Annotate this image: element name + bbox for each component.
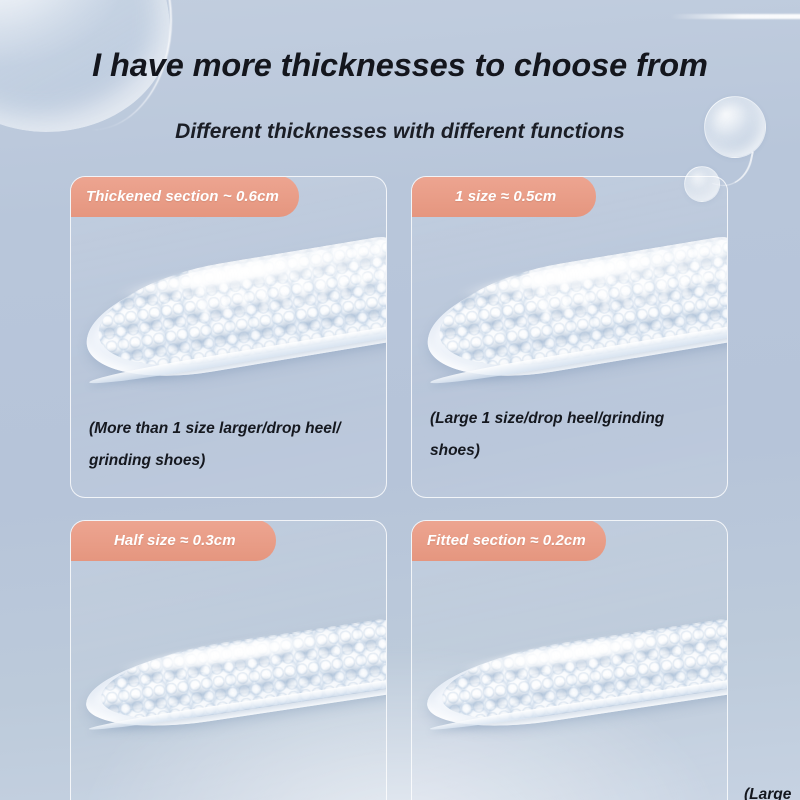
badge-half-size: Half size ≈ 0.3cm [70, 520, 276, 561]
page-title: I have more thicknesses to choose from [0, 0, 800, 84]
gel-insole-image-one-size [412, 223, 727, 413]
gel-insole-image-fitted-section [412, 583, 727, 773]
thickness-card-fitted-section[interactable]: Fitted section ≈ 0.2cm [411, 520, 728, 800]
thickness-card-one-size[interactable]: 1 size ≈ 0.5cm (Large 1 size/drop heel/g… [411, 176, 728, 498]
header: I have more thicknesses to choose from D… [0, 0, 800, 144]
gel-insole-image-thickened [71, 223, 386, 413]
gel-insole-image-half-size [71, 583, 386, 773]
thickness-card-half-size[interactable]: Half size ≈ 0.3cm [70, 520, 387, 800]
page-subtitle: Different thicknesses with different fun… [0, 84, 800, 144]
badge-thickened-section: Thickened section ~ 0.6cm [70, 176, 299, 217]
caption-one-size: (Large 1 size/drop heel/grinding shoes) [430, 403, 717, 467]
thickness-card-thickened[interactable]: Thickened section ~ 0.6cm (More than 1 s… [70, 176, 387, 498]
badge-fitted-section: Fitted section ≈ 0.2cm [411, 520, 606, 561]
caption-thickened-section: (More than 1 size larger/drop heel/ grin… [89, 413, 376, 477]
badge-one-size: 1 size ≈ 0.5cm [411, 176, 596, 217]
clipped-caption-below-fold: (Large [744, 786, 791, 800]
thickness-card-grid: Thickened section ~ 0.6cm (More than 1 s… [0, 176, 800, 800]
